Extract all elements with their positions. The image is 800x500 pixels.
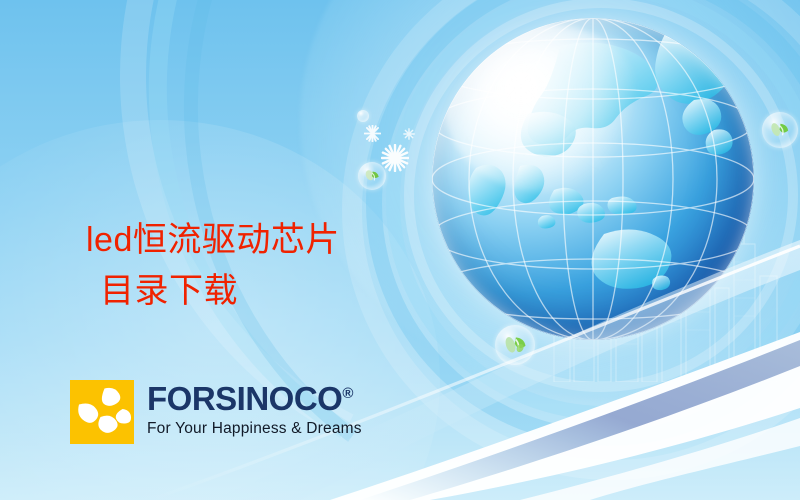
bubble-icon (357, 110, 369, 122)
brand-name-text: FORSINOCO (147, 380, 342, 417)
pinwheel-flower-icon (70, 380, 134, 444)
headline: led恒流驱动芯片 目录下载 (86, 163, 426, 370)
leaf-bubble-icon (762, 112, 798, 148)
registered-trademark-symbol: ® (342, 385, 353, 402)
leaf-bubble-icon (495, 325, 535, 365)
headline-line-2: 目录下载 (86, 266, 426, 318)
logo-text-block: FORSINOCO® For Your Happiness & Dreams (147, 380, 362, 438)
headline-line-1: led恒流驱动芯片 (86, 221, 340, 259)
brand-tagline: For Your Happiness & Dreams (147, 420, 362, 438)
starburst-icon (403, 128, 415, 140)
starburst-icon (364, 125, 381, 142)
brand-name: FORSINOCO® (147, 382, 362, 415)
brand-logo: FORSINOCO® For Your Happiness & Dreams (70, 380, 362, 444)
promo-banner: led恒流驱动芯片 目录下载 FORSINOCO® For Your Happi… (0, 0, 800, 500)
